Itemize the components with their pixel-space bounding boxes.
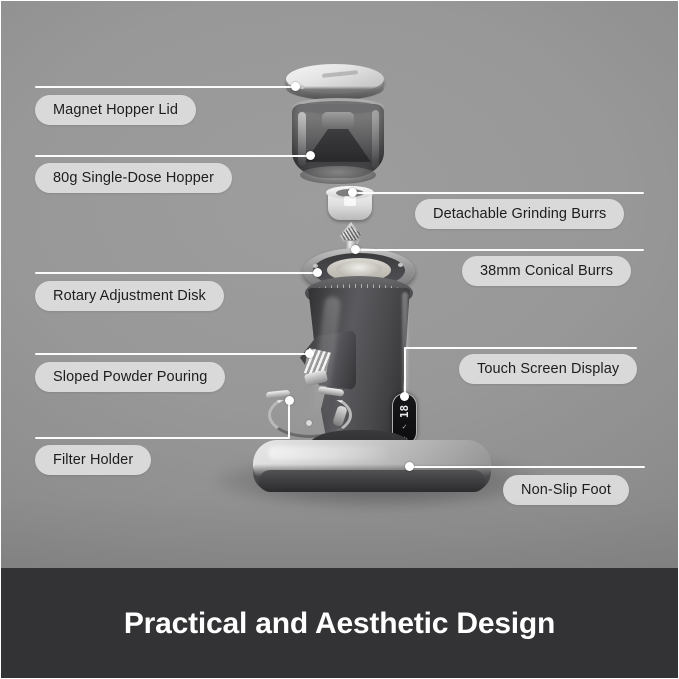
hopper-highlight-right <box>372 110 379 168</box>
grinder-throat-bore <box>336 261 382 277</box>
base-highlight <box>268 446 388 460</box>
callout-conical-burrs[interactable]: 38mm Conical Burrs <box>462 256 631 286</box>
callout-detachable-grinding-burrs[interactable]: Detachable Grinding Burrs <box>415 199 624 229</box>
leader-dot-filter-holder <box>285 396 294 405</box>
leader-dot-non-slip-foot <box>405 462 414 471</box>
leader-line-filter-holder-riser <box>288 402 290 439</box>
hopper-bottom-opening <box>300 166 376 184</box>
product-photo: 18 ✓ ⏻ <box>0 0 679 568</box>
leader-line-filter-holder <box>35 437 290 439</box>
leader-dot-single-dose-hopper <box>306 151 315 160</box>
callout-magnet-hopper-lid[interactable]: Magnet Hopper Lid <box>35 95 196 125</box>
display-check-icon[interactable]: ✓ <box>402 424 408 431</box>
conical-burr-teeth <box>341 226 361 240</box>
filter-holder-screw <box>306 420 312 426</box>
flange-screw <box>398 263 403 267</box>
hopper-knob <box>322 112 354 129</box>
leader-line-single-dose-hopper <box>35 155 311 157</box>
callout-touch-screen-display[interactable]: Touch Screen Display <box>459 354 637 384</box>
leader-line-non-slip-foot <box>410 466 645 468</box>
product-infographic: 18 ✓ ⏻ <box>0 0 679 679</box>
leader-line-rotary-adjustment-disk <box>35 272 318 274</box>
callout-sloped-powder-pouring[interactable]: Sloped Powder Pouring <box>35 362 225 392</box>
leader-dot-touch-screen-display <box>400 392 409 401</box>
leader-dot-sloped-powder-pouring <box>305 349 314 358</box>
callout-filter-holder[interactable]: Filter Holder <box>35 445 151 475</box>
leader-line-conical-burrs <box>356 249 644 251</box>
bottom-banner: Practical and Aesthetic Design <box>0 568 679 679</box>
hopper-highlight-left <box>298 112 306 166</box>
non-slip-foot <box>259 470 485 492</box>
leader-line-sloped-powder-pouring <box>35 353 310 355</box>
callout-rotary-adjustment-disk[interactable]: Rotary Adjustment Disk <box>35 281 224 311</box>
leader-line-detachable-grinding-burrs <box>352 192 644 194</box>
leader-dot-detachable-grinding-burrs <box>348 188 357 197</box>
leader-dot-conical-burrs <box>351 245 360 254</box>
leader-line-touch-screen-riser <box>404 347 406 397</box>
banner-title: Practical and Aesthetic Design <box>124 607 555 641</box>
leader-line-magnet-hopper-lid <box>35 86 297 88</box>
callout-single-dose-hopper[interactable]: 80g Single-Dose Hopper <box>35 163 232 193</box>
burr-carrier-notch <box>344 196 356 206</box>
display-dose-value: 18 <box>399 405 410 418</box>
callout-non-slip-foot[interactable]: Non-Slip Foot <box>503 475 629 505</box>
leader-dot-magnet-hopper-lid <box>291 82 300 91</box>
leader-line-touch-screen-display <box>404 347 637 349</box>
leader-dot-rotary-adjustment-disk <box>313 268 322 277</box>
